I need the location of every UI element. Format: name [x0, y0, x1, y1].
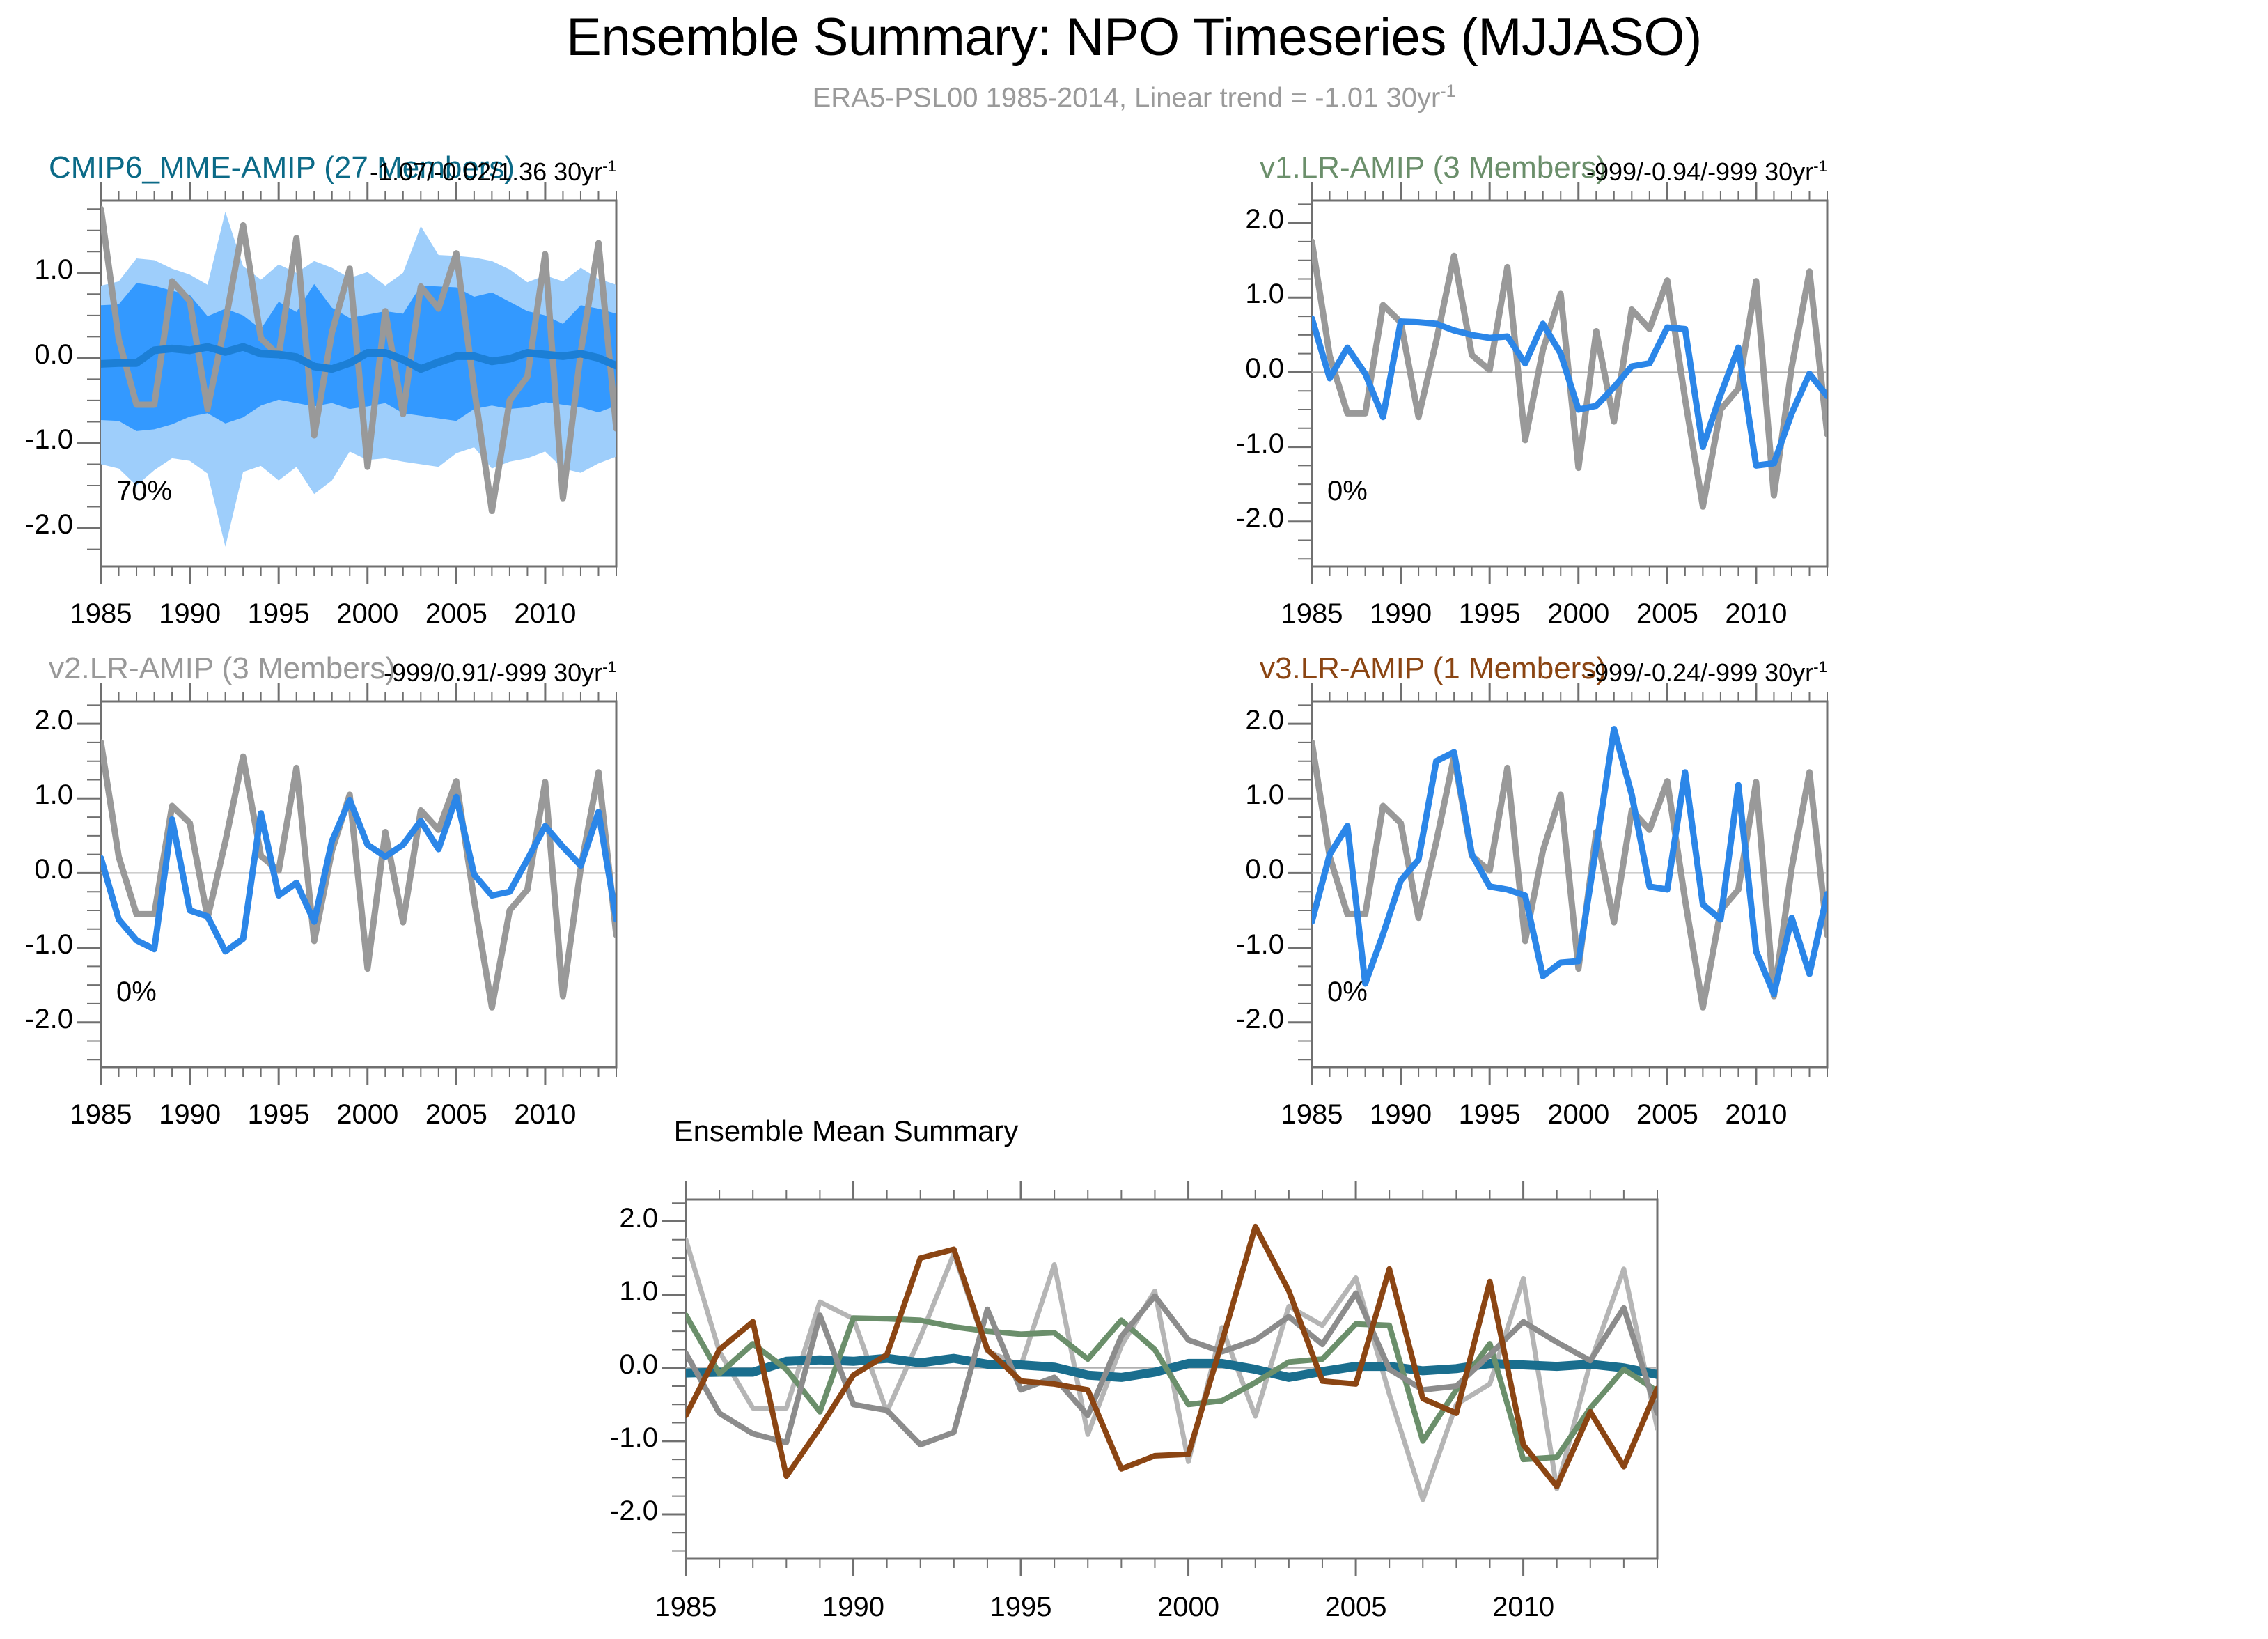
summary-panel-canvas	[0, 0, 2268, 1639]
stat-text: -999/-0.94/-999 30yr	[1586, 157, 1813, 186]
plot-frame	[1312, 201, 1827, 566]
panel-cmip6-mme-amip-series	[101, 209, 616, 547]
stat-exponent: -1	[1813, 157, 1827, 175]
panel-v1-lr-amip-series	[1312, 242, 1827, 506]
y-axis-label: 0.0	[522, 1349, 658, 1381]
y-axis-label: 1.0	[522, 1276, 658, 1307]
y-axis-label: 2.0	[1148, 204, 1284, 235]
observation-line	[1312, 743, 1827, 1007]
y-axis-label: -2.0	[1148, 1004, 1284, 1035]
y-axis-label: -2.0	[0, 1004, 73, 1035]
y-axis-label: 0.0	[1148, 353, 1284, 384]
subtitle-text: ERA5-PSL00 1985-2014, Linear trend = -1.…	[813, 82, 1441, 113]
summary-line-v2-lr-amip	[686, 1294, 1657, 1445]
panel-v3-lr-amip-series	[1312, 729, 1827, 1008]
percent-label-v1-lr-amip: 0%	[1327, 476, 1368, 507]
y-axis-label: -2.0	[1148, 503, 1284, 534]
ensemble-inner-band	[101, 283, 616, 431]
y-axis-label: 2.0	[0, 705, 73, 736]
y-axis-label: -1.0	[0, 929, 73, 961]
summary-line-cmip6-mme-amip	[686, 1358, 1657, 1377]
percent-label-cmip6-mme-amip: 70%	[116, 476, 172, 507]
panel-v3-lr-amip-canvas	[0, 0, 2268, 1639]
plot-frame	[101, 201, 616, 566]
page-title: Ensemble Summary: NPO Timeseries (MJJASO…	[0, 7, 2268, 68]
observation-line	[101, 209, 616, 511]
model-mean-line	[101, 797, 616, 951]
summary-line-v3-lr-amip	[686, 1227, 1657, 1486]
plot-frame	[101, 701, 616, 1067]
observation-line	[1312, 242, 1827, 506]
stat-exponent: -1	[602, 658, 616, 676]
y-axis-label: 0.0	[1148, 854, 1284, 885]
x-axis-label: 1985	[623, 1592, 749, 1623]
y-axis-label: 0.0	[0, 339, 73, 371]
model-mean-line	[1312, 729, 1827, 994]
ensemble-outer-band	[101, 212, 616, 547]
x-axis-label: 2010	[483, 598, 608, 630]
y-axis-label: 1.0	[0, 779, 73, 811]
y-axis-label: -1.0	[0, 424, 73, 456]
panel-stat-cmip6-mme-amip: -1.07/-0.02/1.36 30yr-1	[185, 157, 616, 187]
percent-label-v2-lr-amip: 0%	[116, 977, 157, 1008]
subtitle-exponent: -1	[1440, 82, 1455, 101]
stat-exponent: -1	[602, 157, 616, 175]
y-axis-label: -1.0	[1148, 929, 1284, 961]
y-axis-label: -2.0	[522, 1496, 658, 1527]
y-axis-label: 0.0	[0, 854, 73, 885]
plot-frame	[686, 1199, 1657, 1558]
percent-label-v3-lr-amip: 0%	[1327, 977, 1368, 1008]
stat-text: -999/-0.24/-999 30yr	[1586, 658, 1813, 687]
y-axis-label: 2.0	[522, 1203, 658, 1234]
observation-line	[101, 743, 616, 1007]
y-axis-label: 1.0	[1148, 279, 1284, 310]
y-axis-label: -1.0	[1148, 428, 1284, 460]
panel-v1-lr-amip-canvas	[0, 0, 2268, 1639]
y-axis-label: 1.0	[0, 254, 73, 286]
panel-stat-v3-lr-amip: -999/-0.24/-999 30yr-1	[1395, 658, 1827, 688]
stat-exponent: -1	[1813, 658, 1827, 676]
y-axis-label: 2.0	[1148, 705, 1284, 736]
panel-v2-lr-amip-series	[101, 743, 616, 1007]
summary-panel-title: Ensemble Mean Summary	[463, 1114, 1229, 1148]
panel-cmip6-mme-amip-canvas	[0, 0, 2268, 1639]
x-axis-label: 1995	[958, 1592, 1084, 1623]
panel-stat-v2-lr-amip: -999/0.91/-999 30yr-1	[185, 658, 616, 688]
summary-series	[686, 1227, 1657, 1500]
page-subtitle: ERA5-PSL00 1985-2014, Linear trend = -1.…	[0, 82, 2268, 114]
x-axis-label: 2000	[1126, 1592, 1251, 1623]
panel-v2-lr-amip-canvas	[0, 0, 2268, 1639]
stat-text: -1.07/-0.02/1.36 30yr	[370, 157, 602, 186]
model-mean-line	[1312, 318, 1827, 465]
y-axis-label: -1.0	[522, 1422, 658, 1454]
x-axis-label: 2005	[1293, 1592, 1418, 1623]
y-axis-label: -2.0	[0, 509, 73, 541]
summary-line-v1-lr-amip	[686, 1315, 1657, 1459]
summary-line-era5-psl00	[686, 1240, 1657, 1500]
panel-stat-v1-lr-amip: -999/-0.94/-999 30yr-1	[1395, 157, 1827, 187]
ensemble-mean-line	[101, 347, 616, 369]
plot-frame	[1312, 701, 1827, 1067]
x-axis-label: 2010	[1694, 1099, 1819, 1131]
y-axis-label: 1.0	[1148, 779, 1284, 811]
x-axis-label: 2010	[1694, 598, 1819, 630]
x-axis-label: 2010	[1461, 1592, 1586, 1623]
stat-text: -999/0.91/-999 30yr	[384, 658, 602, 687]
x-axis-label: 1990	[791, 1592, 916, 1623]
